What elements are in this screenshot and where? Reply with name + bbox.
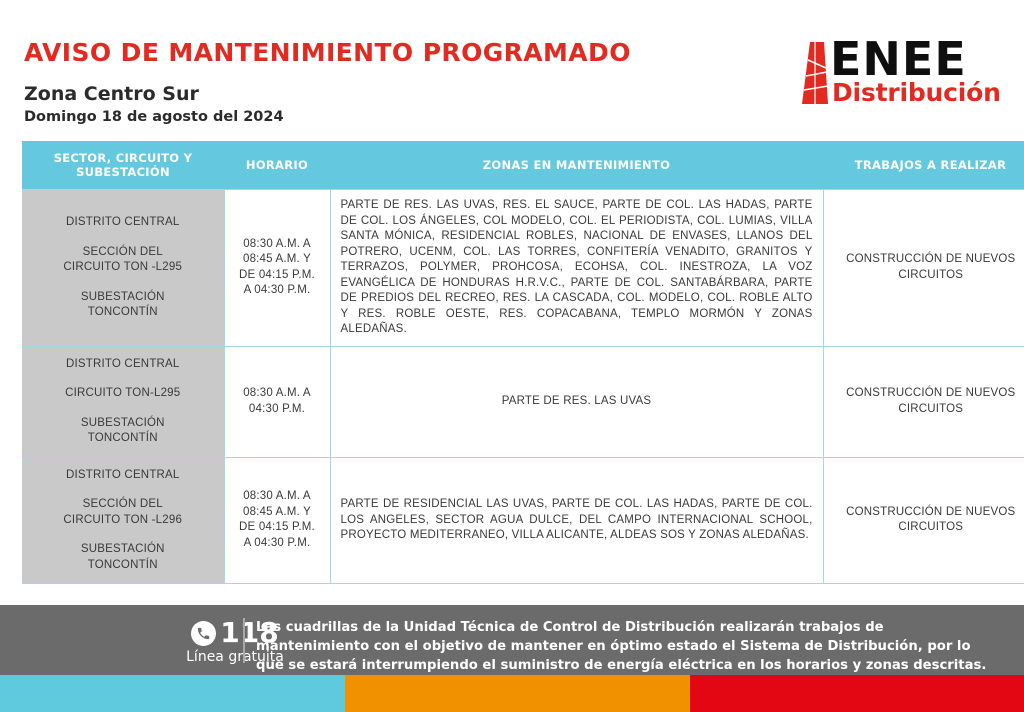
sector-line: CIRCUITO TON -L296 <box>28 513 218 529</box>
zone-subtitle: Zona Centro Sur <box>24 83 199 105</box>
cell-sector: DISTRITO CENTRAL SECCIÓN DEL CIRCUITO TO… <box>22 457 224 584</box>
sector-line: CIRCUITO TON -L295 <box>28 260 218 276</box>
cell-trabajos: CONSTRUCCIÓN DE NUEVOS CIRCUITOS <box>823 457 1024 584</box>
sector-line: TONCONTÍN <box>28 558 218 574</box>
spacer <box>28 483 218 497</box>
cell-horario: 08:30 A.M. A 04:30 P.M. <box>224 346 330 457</box>
table-header: SECTOR, CIRCUITO Y SUBESTACIÓN HORARIO Z… <box>22 141 1024 190</box>
footer-divider <box>243 618 245 663</box>
spacer <box>28 372 218 386</box>
footer-band: 118 Línea gratuita Las cuadrillas de la … <box>0 605 1024 675</box>
logo-subtitle: Distribución <box>832 80 1001 105</box>
column-header-horario: HORARIO <box>224 141 330 190</box>
sector-line: DISTRITO CENTRAL <box>28 357 218 373</box>
bar-segment-red <box>690 675 1024 712</box>
cell-trabajos: CONSTRUCCIÓN DE NUEVOS CIRCUITOS <box>823 190 1024 347</box>
cell-horario: 08:30 A.M. A 08:45 A.M. Y DE 04:15 P.M. … <box>224 457 330 584</box>
spacer <box>28 276 218 290</box>
table-row: DISTRITO CENTRAL SECCIÓN DEL CIRCUITO TO… <box>22 190 1024 347</box>
bar-segment-cyan <box>0 675 345 712</box>
bar-segment-orange <box>345 675 690 712</box>
enee-logo: ENEE Distribución <box>796 40 996 108</box>
sector-line: SUBESTACIÓN <box>28 542 218 558</box>
cell-trabajos: CONSTRUCCIÓN DE NUEVOS CIRCUITOS <box>823 346 1024 457</box>
bottom-color-bar <box>0 675 1024 712</box>
sector-line: CIRCUITO TON-L295 <box>28 386 218 402</box>
notice-date: Domingo 18 de agosto del 2024 <box>24 109 284 125</box>
sector-line: SUBESTACIÓN <box>28 416 218 432</box>
sector-line: SECCIÓN DEL <box>28 245 218 261</box>
sector-line: SECCIÓN DEL <box>28 497 218 513</box>
sector-line: DISTRITO CENTRAL <box>28 215 218 231</box>
cell-zonas: PARTE DE RES. LAS UVAS <box>330 346 823 457</box>
cell-horario: 08:30 A.M. A 08:45 A.M. Y DE 04:15 P.M. … <box>224 190 330 347</box>
phone-icon <box>191 621 216 646</box>
spacer <box>28 528 218 542</box>
transmission-tower-icon <box>802 42 828 104</box>
maintenance-table: SECTOR, CIRCUITO Y SUBESTACIÓN HORARIO Z… <box>22 141 1024 584</box>
sector-line: TONCONTÍN <box>28 305 218 321</box>
table-header-row: SECTOR, CIRCUITO Y SUBESTACIÓN HORARIO Z… <box>22 141 1024 190</box>
logo-wordmark: ENEE <box>830 36 967 82</box>
sector-line: SUBESTACIÓN <box>28 290 218 306</box>
cell-sector: DISTRITO CENTRAL CIRCUITO TON-L295 SUBES… <box>22 346 224 457</box>
table-body: DISTRITO CENTRAL SECCIÓN DEL CIRCUITO TO… <box>22 190 1024 584</box>
page-title: AVISO DE MANTENIMIENTO PROGRAMADO <box>24 38 631 67</box>
column-header-trabajos: TRABAJOS A REALIZAR <box>823 141 1024 190</box>
table-row: DISTRITO CENTRAL CIRCUITO TON-L295 SUBES… <box>22 346 1024 457</box>
column-header-sector: SECTOR, CIRCUITO Y SUBESTACIÓN <box>22 141 224 190</box>
spacer <box>28 402 218 416</box>
page-header: AVISO DE MANTENIMIENTO PROGRAMADO Zona C… <box>0 0 1024 135</box>
footer-notice-text: Las cuadrillas de la Unidad Técnica de C… <box>256 618 996 675</box>
cell-zonas: PARTE DE RESIDENCIAL LAS UVAS, PARTE DE … <box>330 457 823 584</box>
sector-line: TONCONTÍN <box>28 431 218 447</box>
sector-line: DISTRITO CENTRAL <box>28 468 218 484</box>
column-header-zonas: ZONAS EN MANTENIMIENTO <box>330 141 823 190</box>
cell-sector: DISTRITO CENTRAL SECCIÓN DEL CIRCUITO TO… <box>22 190 224 347</box>
spacer <box>28 231 218 245</box>
cell-zonas: PARTE DE RES. LAS UVAS, RES. EL SAUCE, P… <box>330 190 823 347</box>
table-row: DISTRITO CENTRAL SECCIÓN DEL CIRCUITO TO… <box>22 457 1024 584</box>
